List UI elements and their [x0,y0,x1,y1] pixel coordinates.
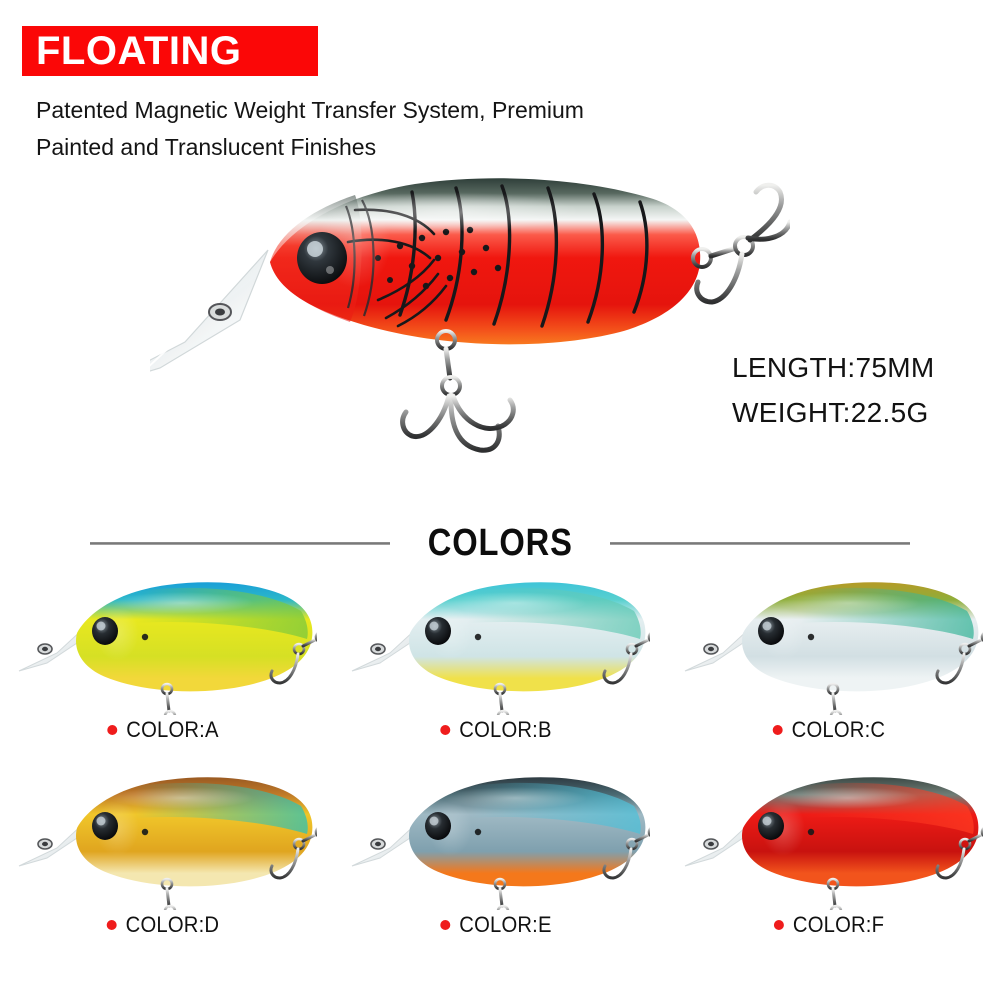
swatch-cell-e[interactable]: COLOR:E [333,770,666,965]
swatch-label-e: COLOR:E [459,912,551,938]
swatch-cell-f[interactable]: COLOR:F [667,770,1000,965]
swatch-label-f: COLOR:F [793,912,884,938]
swatch-cell-b[interactable]: COLOR:B [333,575,666,770]
swatch-cell-d[interactable]: COLOR:D [0,770,333,965]
swatch-label-a: COLOR:A [126,717,218,743]
description-line-1: Patented Magnetic Weight Transfer System… [36,92,796,129]
swatch-row-1: COLOR:A [0,575,1000,770]
divider-left [90,542,390,545]
belly-treble-hook-icon [403,331,514,450]
bullet-dot-icon [440,725,450,735]
color-swatch-grid: COLOR:A [0,575,1000,965]
swatch-caption-f: COLOR:F [774,912,892,938]
spec-weight: WEIGHT:22.5G [732,390,934,435]
swatch-caption-d: COLOR:D [106,912,227,938]
swatch-caption-e: COLOR:E [440,912,559,938]
product-infographic: FLOATING Patented Magnetic Weight Transf… [0,0,1000,1000]
bullet-dot-icon [774,920,784,930]
spec-list: LENGTH:75MM WEIGHT:22.5G [732,345,934,436]
floating-badge-label: FLOATING [22,31,241,71]
swatch-cell-c[interactable]: COLOR:C [667,575,1000,770]
bullet-dot-icon [440,920,450,930]
lure-thumb-red-craw [683,770,983,910]
bullet-dot-icon [107,725,117,735]
lure-thumb-blue-back-chartreuse [17,575,317,715]
colors-title: COLORS [428,522,573,565]
divider-right [610,542,910,545]
bullet-dot-icon [106,920,116,930]
swatch-cell-a[interactable]: COLOR:A [0,575,333,770]
swatch-label-d: COLOR:D [125,912,219,938]
swatch-caption-a: COLOR:A [107,717,226,743]
lure-thumb-gold-perch-bluegill [17,770,317,910]
swatch-label-b: COLOR:B [459,717,551,743]
lure-thumb-ghost-olive-shad [683,575,983,715]
swatch-caption-c: COLOR:C [773,717,894,743]
swatch-label-c: COLOR:C [792,717,886,743]
bullet-dot-icon [773,725,783,735]
hero-lure-image [150,150,790,480]
lure-thumb-holographic-foil-shad [350,770,650,910]
lure-eye-icon [297,232,347,284]
swatch-row-2: COLOR:D [0,770,1000,965]
swatch-caption-b: COLOR:B [440,717,559,743]
floating-badge: FLOATING [22,26,318,76]
colors-heading: COLORS [0,515,1000,571]
diving-lip-icon [150,250,268,388]
lure-thumb-citrus-shad-pearl [350,575,650,715]
spec-length: LENGTH:75MM [732,345,934,390]
tail-treble-hook-icon [693,185,790,302]
